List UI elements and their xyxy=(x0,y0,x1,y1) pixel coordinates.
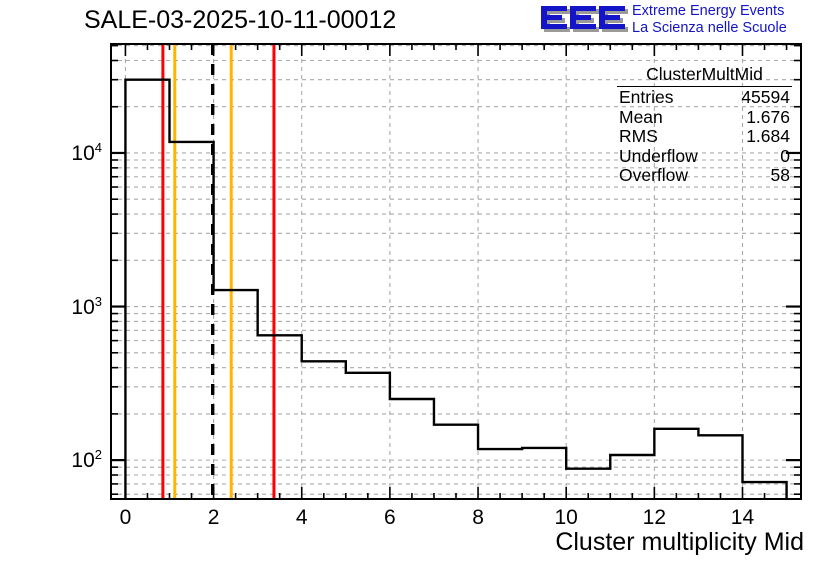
y-tick-label: 104 xyxy=(30,140,102,166)
stats-key-entries: Entries xyxy=(619,88,673,108)
stats-value-mean: 1.676 xyxy=(746,108,790,128)
x-tick-label: 8 xyxy=(472,506,484,530)
stats-key-underflow: Underflow xyxy=(619,147,698,167)
stats-row-mean: Mean 1.676 xyxy=(617,108,792,128)
stats-value-overflow: 58 xyxy=(771,166,790,186)
x-tick-label: 10 xyxy=(555,506,578,530)
root-canvas: SALE-03-2025-10-11-00012 xyxy=(0,0,836,572)
stats-title: ClusterMultMid xyxy=(617,64,792,87)
stats-row-rms: RMS 1.684 xyxy=(617,127,792,147)
stats-value-rms: 1.684 xyxy=(746,127,790,147)
y-tick-label: 103 xyxy=(30,294,102,320)
stats-row-entries: Entries 45594 xyxy=(617,88,792,108)
x-tick-label: 2 xyxy=(208,506,220,530)
x-axis-title: Cluster multiplicity Mid xyxy=(555,528,804,557)
stats-key-rms: RMS xyxy=(619,127,658,147)
stats-value-underflow: 0 xyxy=(780,147,790,167)
stats-row-underflow: Underflow 0 xyxy=(617,147,792,167)
stats-box: ClusterMultMid Entries 45594 Mean 1.676 … xyxy=(617,64,792,186)
stats-value-entries: 45594 xyxy=(741,88,790,108)
x-tick-label: 12 xyxy=(643,506,666,530)
x-tick-label: 6 xyxy=(384,506,396,530)
x-tick-label: 14 xyxy=(731,506,754,530)
x-tick-label: 4 xyxy=(296,506,308,530)
stats-key-mean: Mean xyxy=(619,108,663,128)
stats-row-overflow: Overflow 58 xyxy=(617,166,792,186)
stats-key-overflow: Overflow xyxy=(619,166,688,186)
y-tick-label: 102 xyxy=(30,447,102,473)
x-tick-label: 0 xyxy=(120,506,132,530)
